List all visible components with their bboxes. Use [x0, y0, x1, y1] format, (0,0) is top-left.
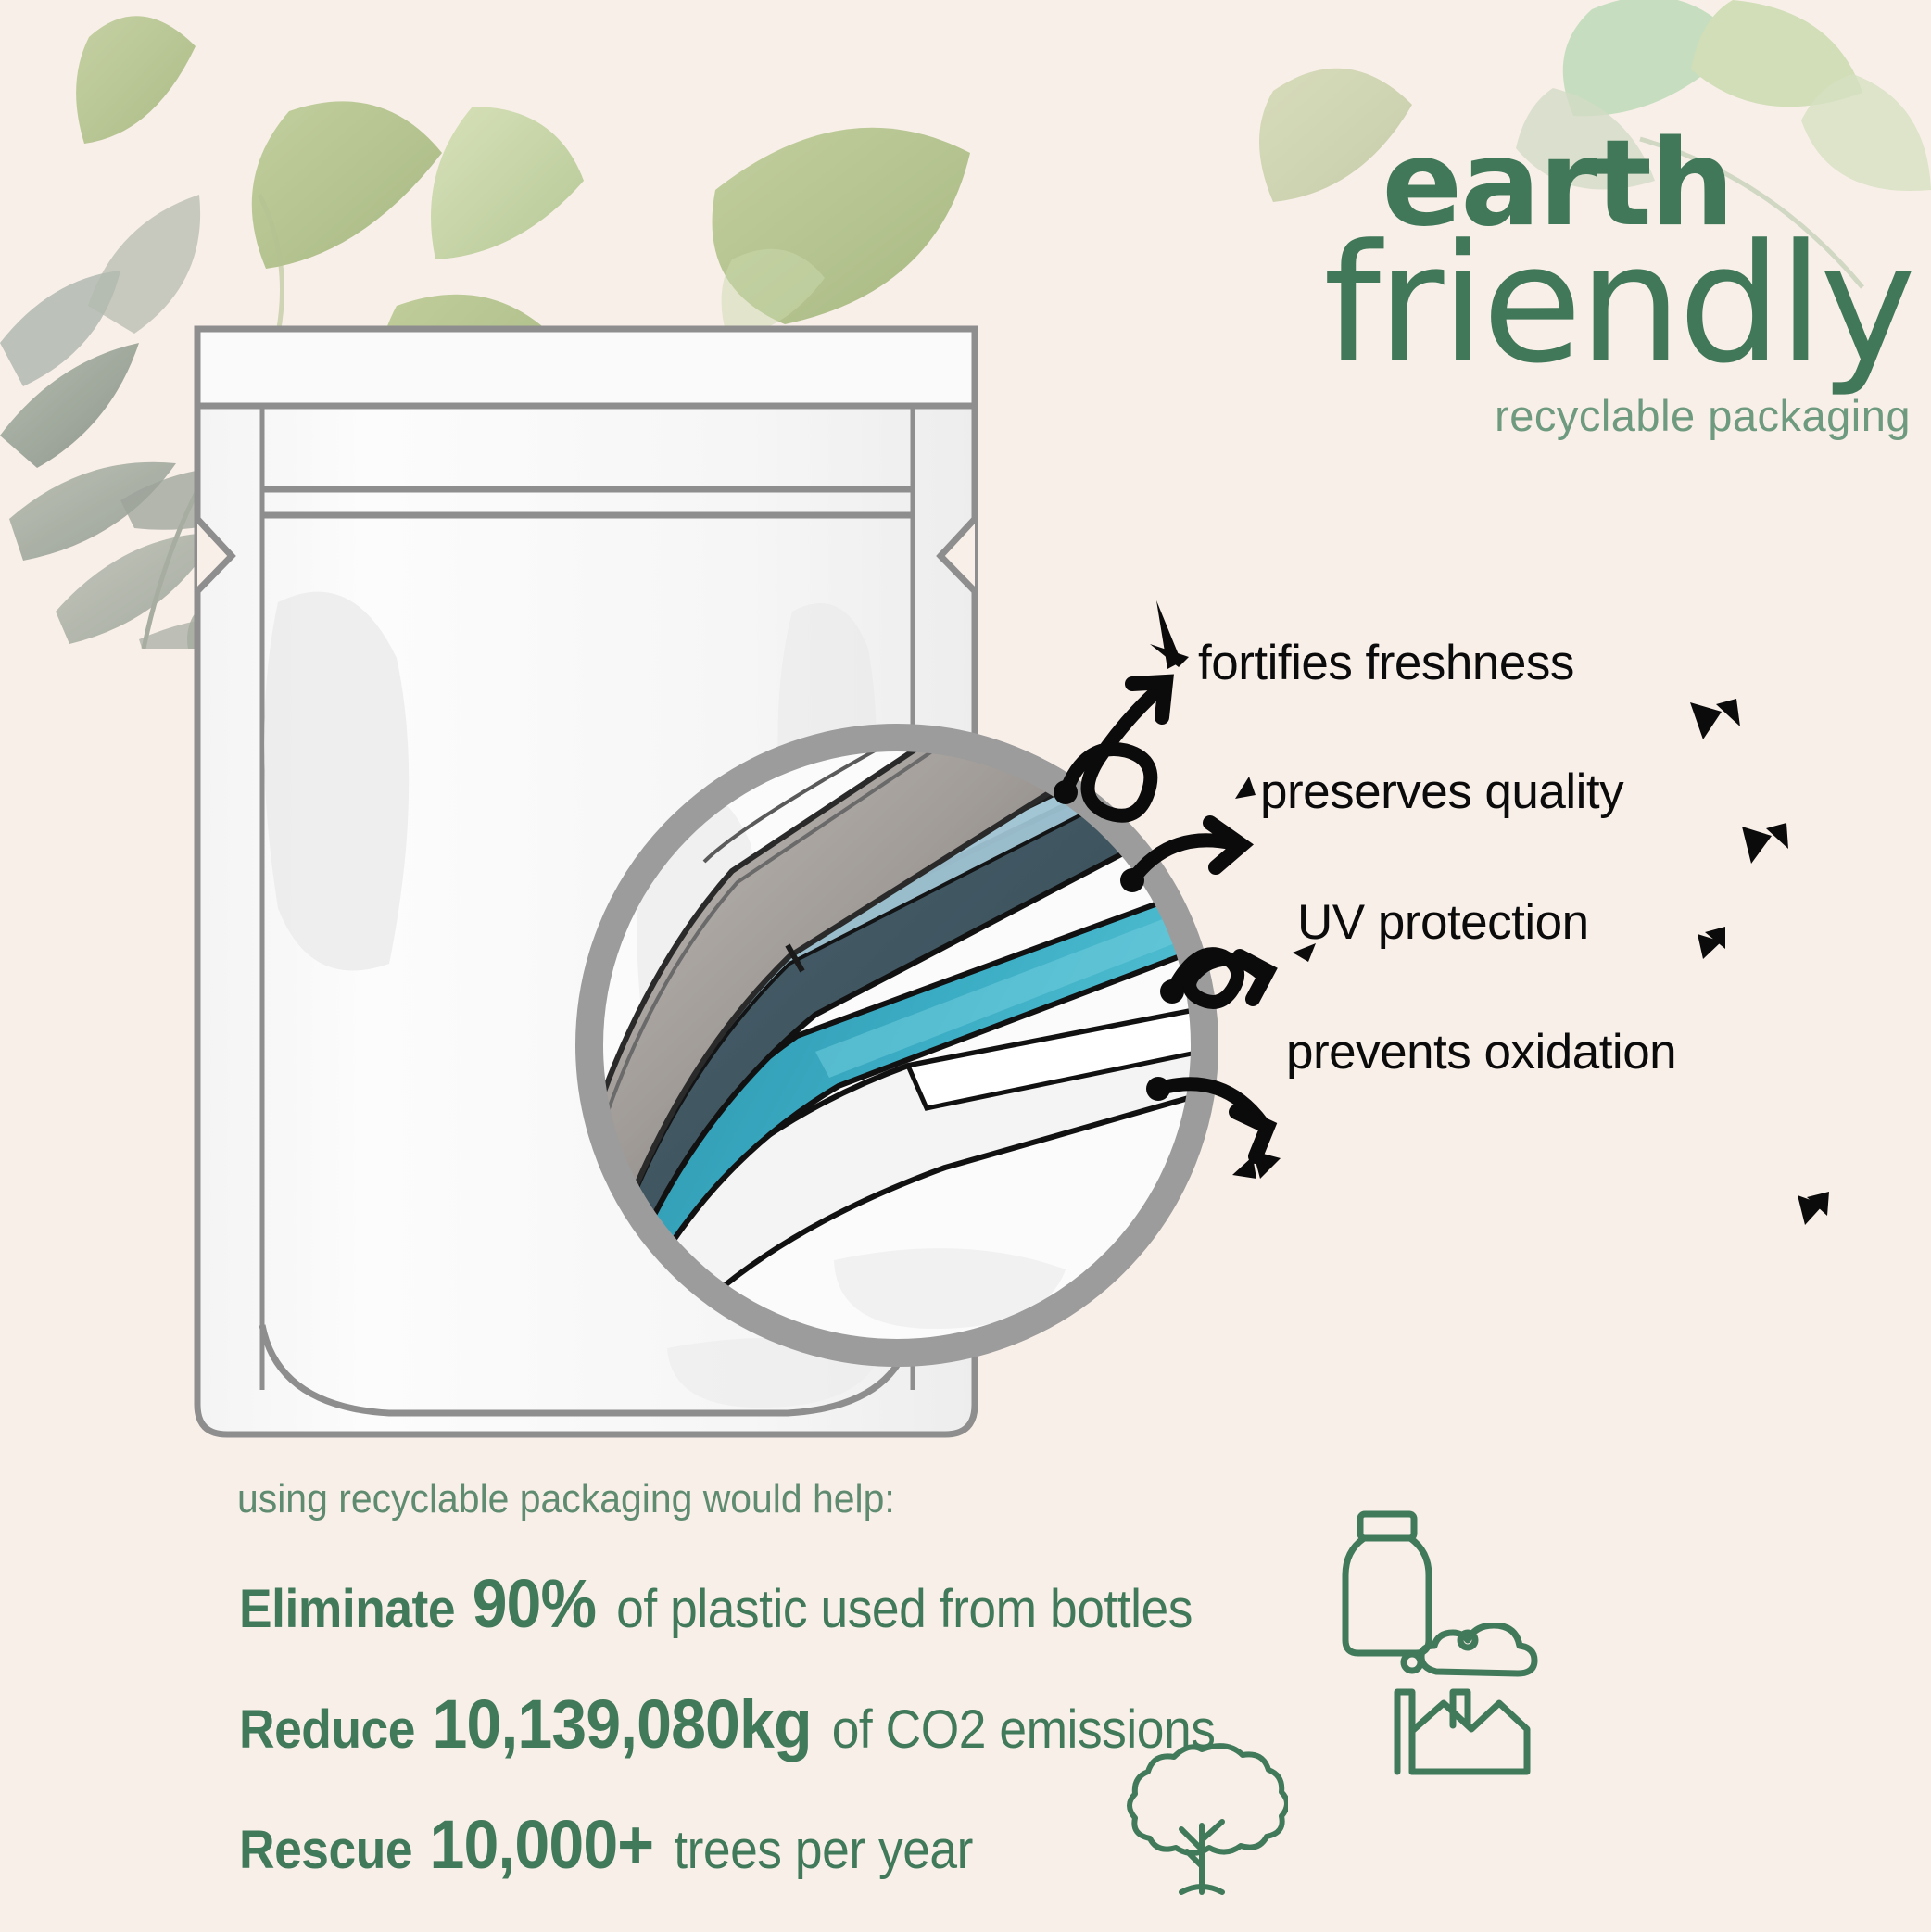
feature-label-uv-protection: UV protection	[1297, 894, 1589, 951]
factory-icon	[1381, 1623, 1552, 1783]
feature-label-preserves-quality: preserves quality	[1260, 764, 1623, 820]
heading-line-friendly: friendly	[1103, 228, 1918, 381]
tree-icon	[1117, 1735, 1288, 1906]
page-heading: earth friendly recyclable packaging	[1103, 130, 1918, 441]
stats-intro-text: using recyclable packaging would help:	[237, 1476, 895, 1522]
stat-verb: Eliminate	[239, 1579, 468, 1639]
stat-value: 10,000+	[430, 1806, 671, 1883]
heading-subtitle: recyclable packaging	[1103, 390, 1918, 441]
stat-row: Reduce 10,139,080kg of CO2 emissions	[239, 1685, 1215, 1763]
stat-tail: trees per year	[674, 1820, 973, 1880]
stat-row: Rescue 10,000+ trees per year	[239, 1805, 973, 1884]
feature-label-prevents-oxidation: prevents oxidation	[1286, 1024, 1676, 1080]
stat-row: Eliminate 90% of plastic used from bottl…	[239, 1564, 1193, 1643]
feature-label-fortifies-freshness: fortifies freshness	[1198, 635, 1574, 691]
pouch-top-seal	[197, 329, 975, 406]
stat-value: 10,139,080kg	[432, 1686, 827, 1762]
stat-verb: Reduce	[239, 1699, 428, 1760]
infographic-canvas: earth friendly recyclable packaging fort…	[0, 0, 1931, 1932]
stat-value: 90%	[473, 1565, 612, 1642]
stat-tail: of plastic used from bottles	[616, 1579, 1193, 1639]
stat-verb: Rescue	[239, 1820, 425, 1880]
